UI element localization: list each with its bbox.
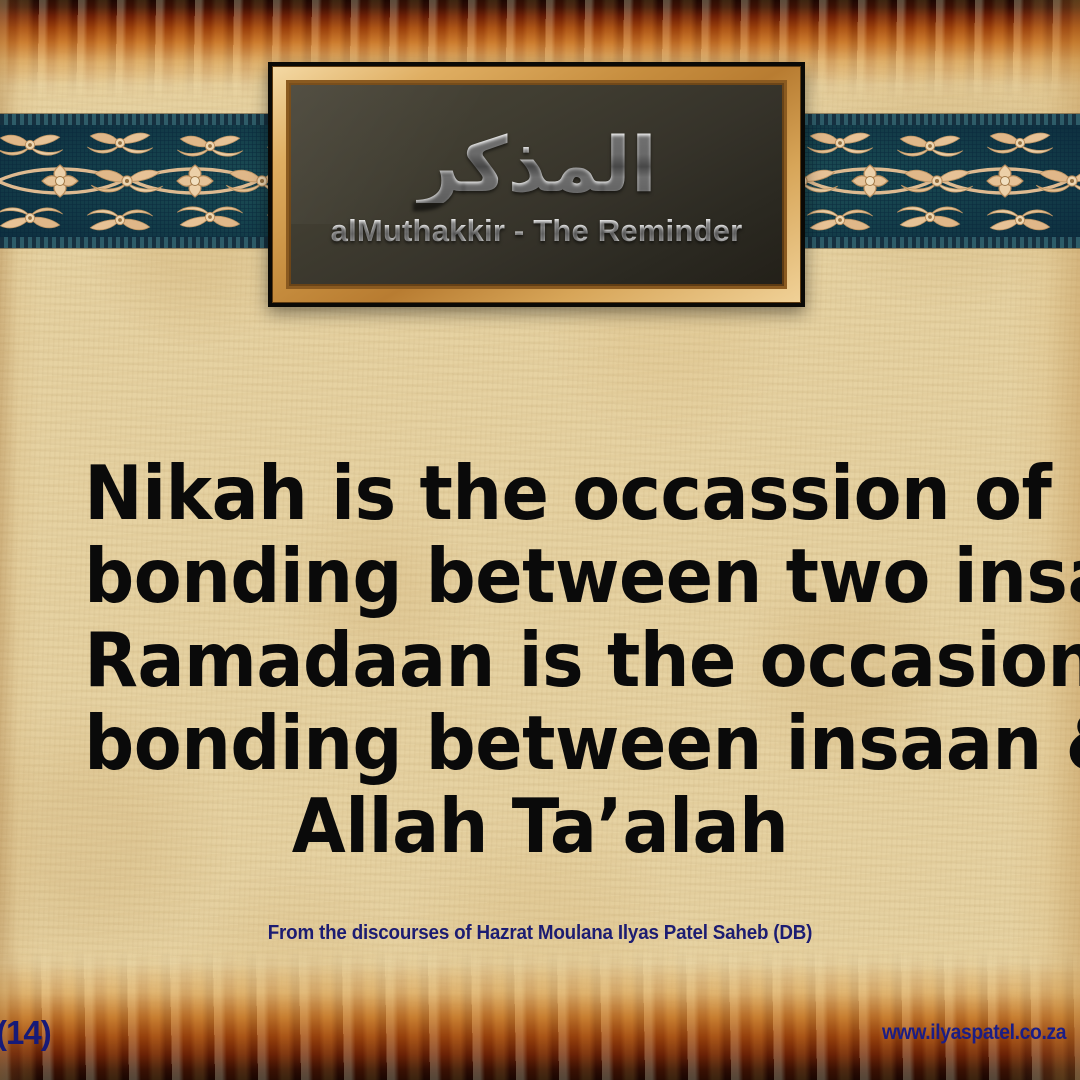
quote-line-2: bonding between two insaan, [84,535,995,618]
logo-frame-gold: المذكر alMuthakkir - The Reminder [272,66,801,303]
quote-line-4: bonding between insaan & [84,702,995,785]
burnt-bottom-edge-streaks [0,930,1080,1080]
quote-line-3: Ramadaan is the occasion of [84,619,995,702]
attribution-text: From the discourses of Hazrat Moulana Il… [32,922,1047,945]
quote-line-5: Allah Ta’alah [84,785,995,868]
logo-frame-bevel: المذكر alMuthakkir - The Reminder [286,80,787,289]
logo-screen: المذكر alMuthakkir - The Reminder [291,85,782,284]
logo-plaque: المذكر alMuthakkir - The Reminder [268,62,805,307]
quote-text: Nikah is the occassion of bonding betwee… [84,452,995,868]
logo-arabic-title: المذكر [416,127,657,203]
poster-canvas: المذكر alMuthakkir - The Reminder Nikah … [0,0,1080,1080]
website-url[interactable]: www.ilyaspatel.co.za [882,1021,1066,1045]
logo-subtitle: alMuthakkir - The Reminder [331,213,743,249]
page-number: (14) [0,1014,51,1052]
quote-line-1: Nikah is the occassion of [84,452,995,535]
